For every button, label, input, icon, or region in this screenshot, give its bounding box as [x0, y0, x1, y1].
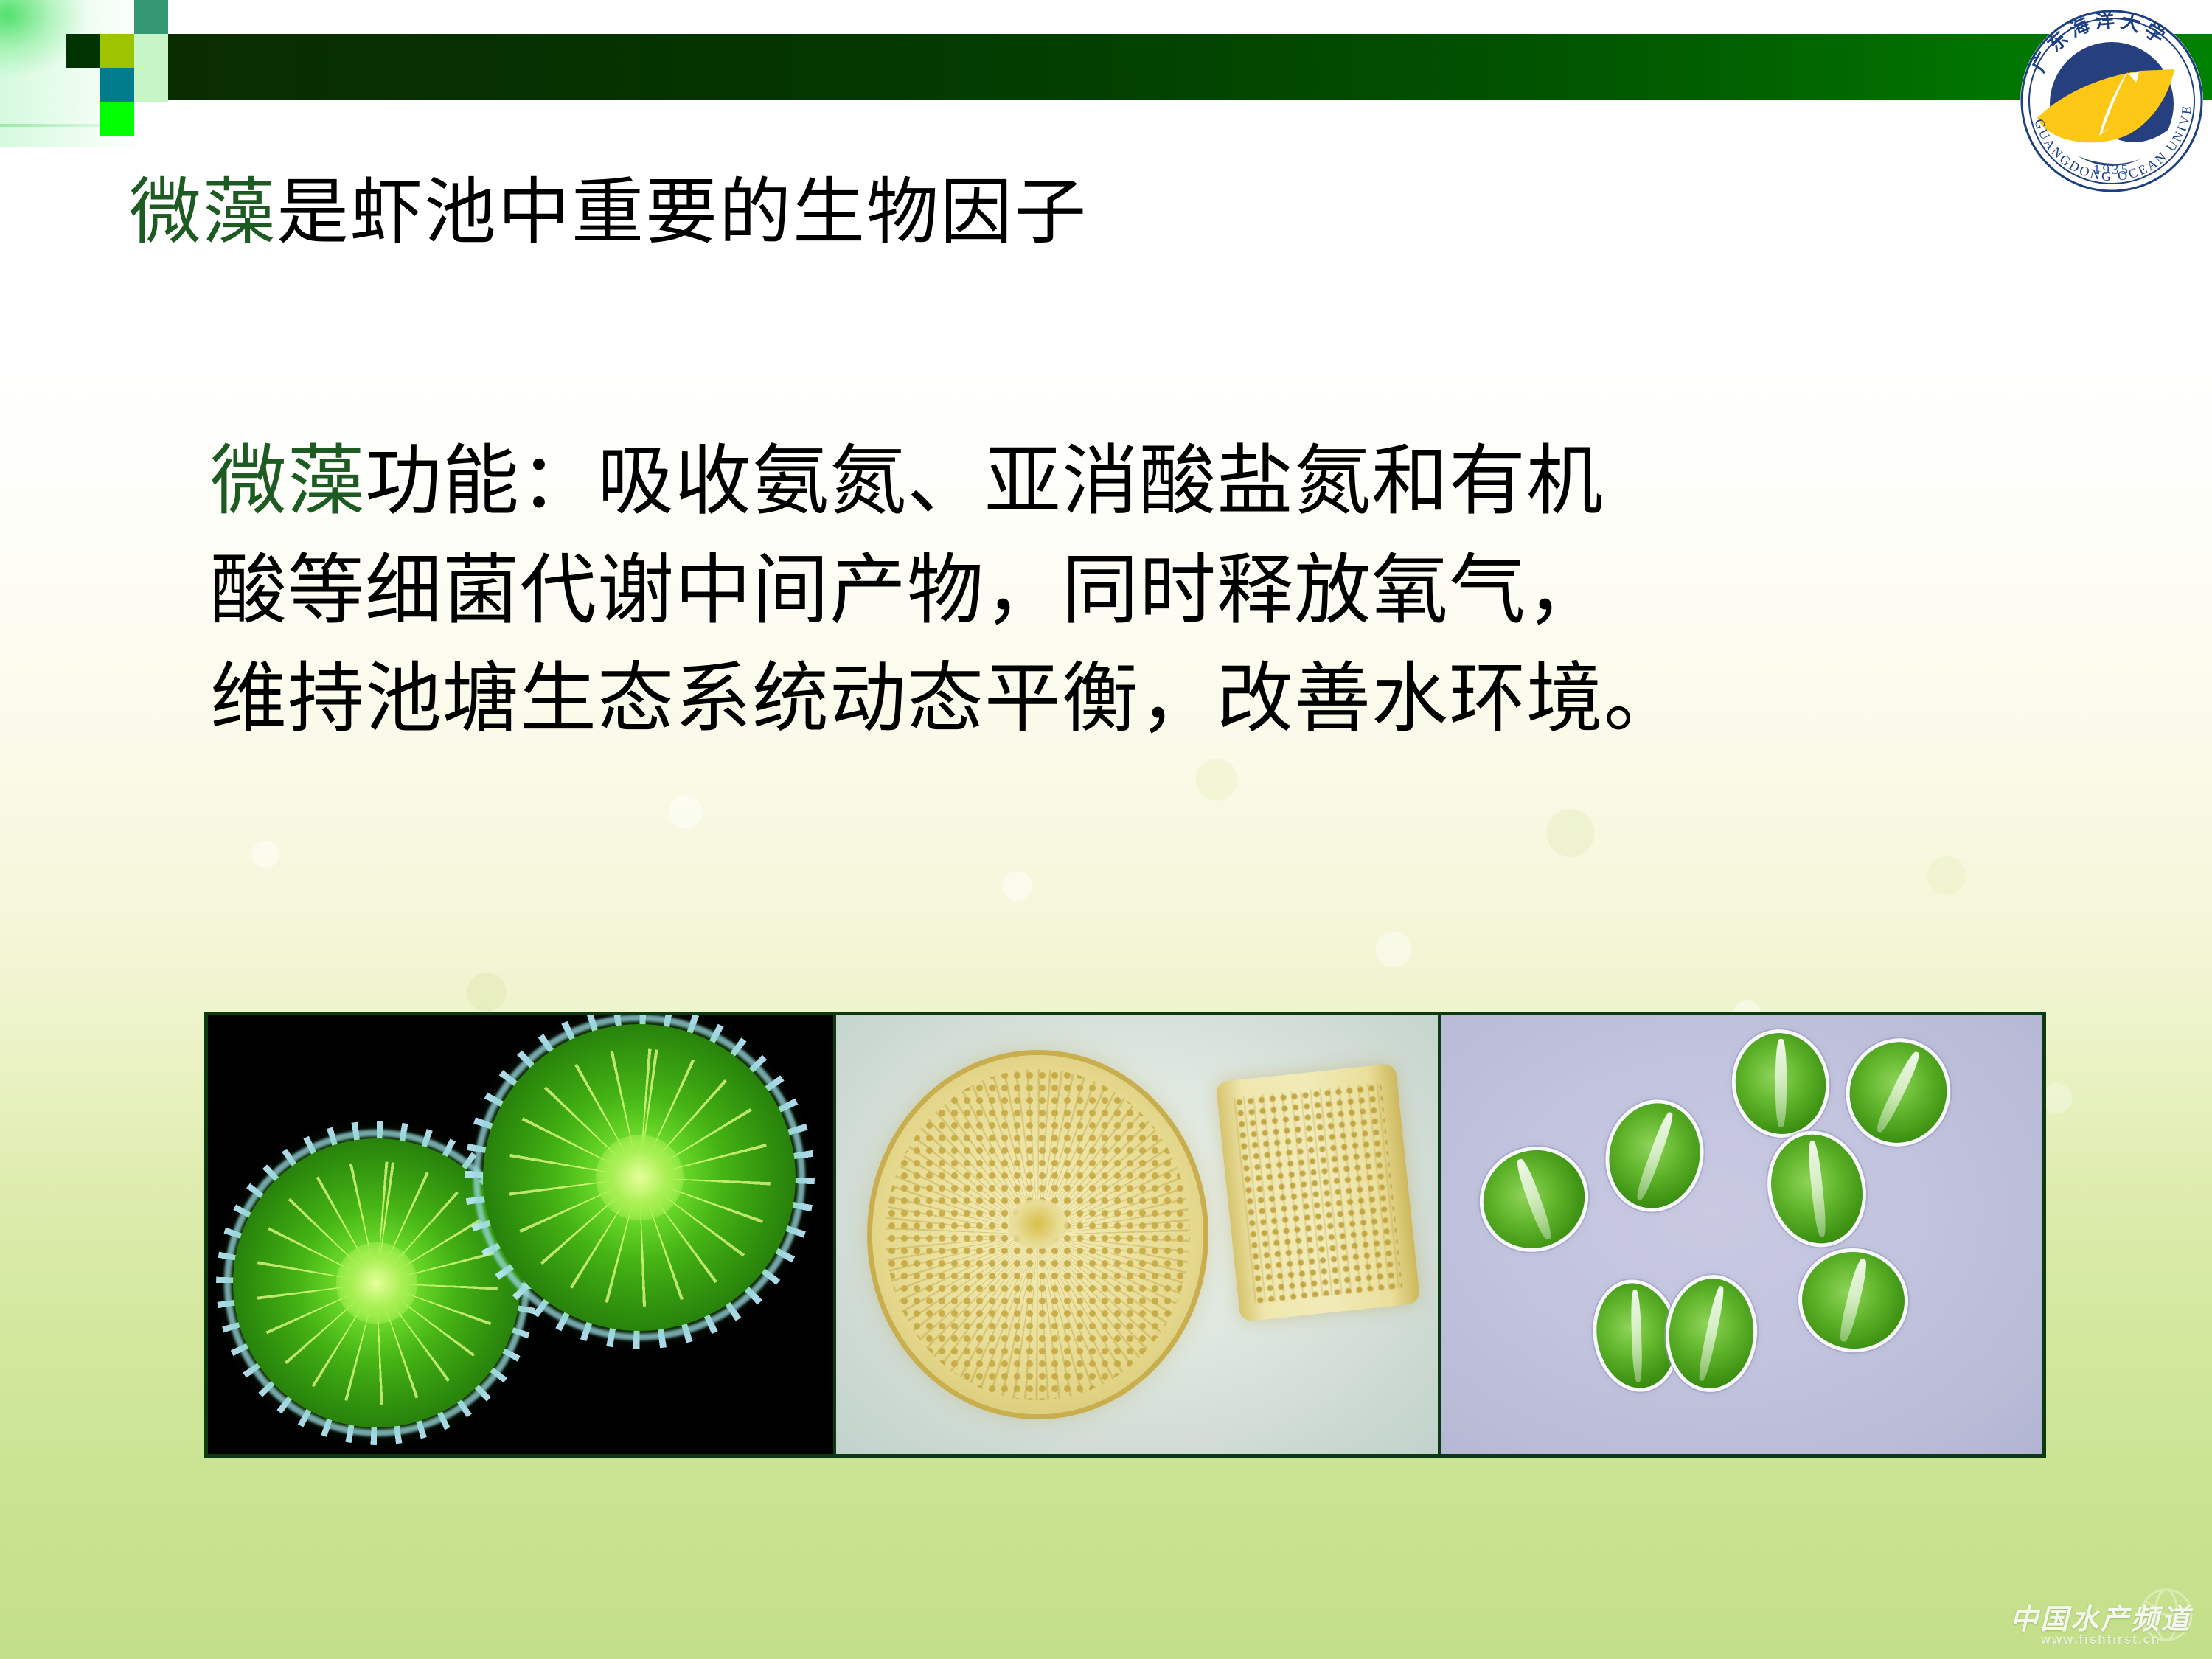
diatom-valve-view [872, 1055, 1203, 1415]
mosaic-bright-green [100, 102, 134, 136]
body-paragraph: 微藻功能：吸收氨氮、亚消酸盐氮和有机 酸等细菌代谢中间产物，同时释放氧气， 维持… [210, 428, 2098, 754]
body-line-1-text: 功能：吸收氨氮、亚消酸盐氮和有机 [365, 439, 1604, 524]
site-watermark: 中国水产频道 www.fishfirst.cn [2010, 1596, 2191, 1647]
slide-root: 广 东 海 洋 大 学 GUANGDONG OCEAN UNIVERSITY 1… [0, 0, 2212, 1659]
image-centric-diatom [833, 1015, 1438, 1454]
mosaic-mint-1 [134, 34, 168, 68]
mosaic-olive [100, 34, 134, 68]
slide-header-band [0, 0, 2212, 147]
page-title-rest: 是虾池中重要的生物因子 [276, 173, 1088, 253]
university-logo: 广 东 海 洋 大 学 GUANGDONG OCEAN UNIVERSITY 1… [2017, 6, 2207, 196]
mosaic-dark-green-1 [66, 34, 100, 68]
body-line-3: 维持池塘生态系统动态平衡，改善水环境。 [210, 645, 2098, 754]
page-title-accent: 微藻 [129, 173, 276, 253]
mosaic-teal-blue [100, 68, 134, 102]
page-title: 微藻是虾池中重要的生物因子 [129, 171, 1088, 257]
body-line-1: 微藻功能：吸收氨氮、亚消酸盐氮和有机 [210, 428, 2098, 537]
svg-text:1935: 1935 [2093, 162, 2130, 178]
watermark-url: www.fishfirst.cn [2010, 1632, 2191, 1647]
header-green-bar [168, 34, 2212, 100]
body-lead-accent: 微藻 [210, 439, 365, 524]
mosaic-mint-2 [134, 68, 168, 102]
watermark-name: 中国水产频道 [2010, 1596, 2191, 1637]
globe-icon [2138, 1587, 2194, 1643]
mosaic-teal-green [134, 0, 168, 34]
image-green-algae-cells [1438, 1015, 2042, 1454]
diatom-girdle-view [1215, 1063, 1420, 1322]
body-line-2: 酸等细菌代谢中间产物，同时释放氧气， [210, 537, 2098, 646]
micrograph-image-strip [204, 1012, 2046, 1458]
image-desmid-algae [208, 1015, 833, 1454]
